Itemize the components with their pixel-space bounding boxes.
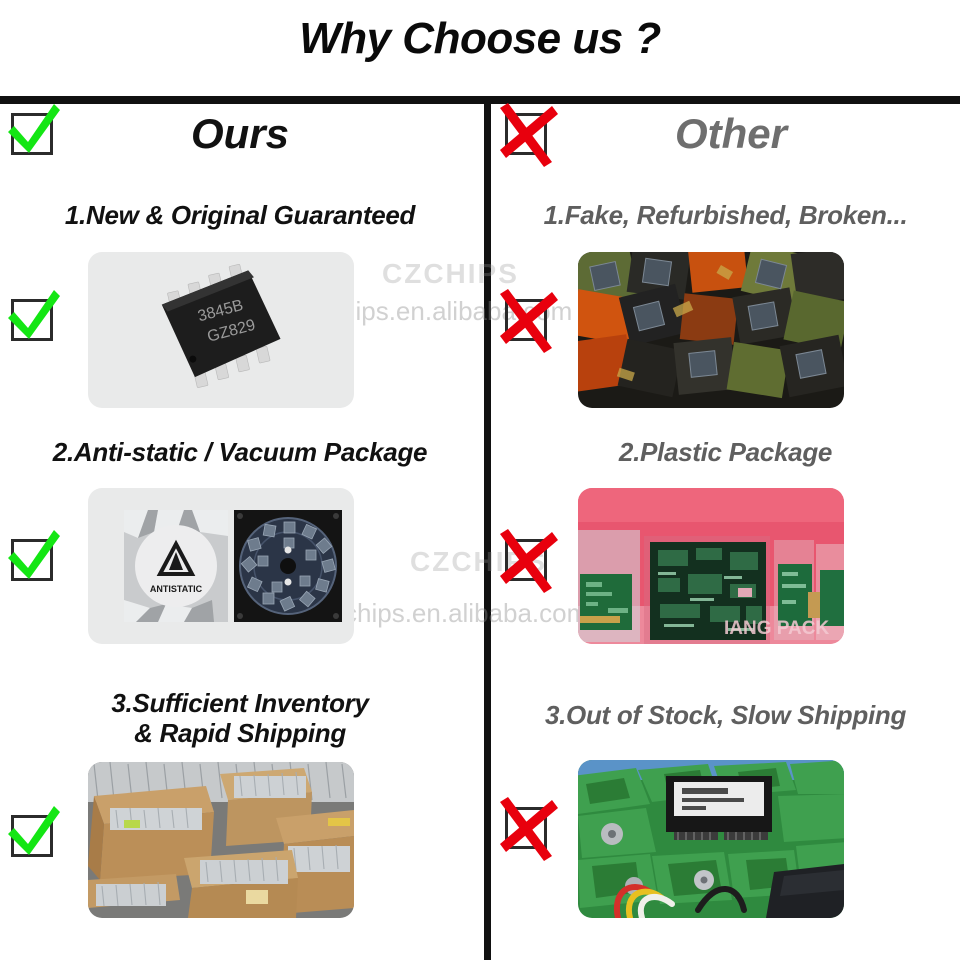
photo-stock-cartons <box>88 762 354 918</box>
check-mark-icon-heading <box>4 106 60 162</box>
check-mark-icon-row-1 <box>4 292 60 348</box>
svg-text:IANG PACK: IANG PACK <box>724 618 829 639</box>
row-2-label-ours: 2.Anti-static / Vacuum Package <box>0 437 480 467</box>
photo-antistatic-package: ANTISTATIC <box>88 488 354 644</box>
row-2-label-other: 2.Plastic Package <box>491 437 960 467</box>
photo-salvaged-chip-pile <box>578 252 844 408</box>
row-1-label-ours: 1.New & Original Guaranteed <box>0 200 480 230</box>
cross-mark-icon-row-1 <box>498 292 554 348</box>
row-1-label-other: 1.Fake, Refurbished, Broken... <box>491 200 960 230</box>
cross-mark-icon-heading <box>498 106 554 162</box>
cross-mark-icon-row-3 <box>498 800 554 856</box>
cross-mark-icon-row-2 <box>498 532 554 588</box>
check-mark-icon-row-2 <box>4 532 60 588</box>
svg-text:ANTISTATIC: ANTISTATIC <box>150 584 203 594</box>
row-3-label-other: 3.Out of Stock, Slow Shipping <box>491 700 960 730</box>
page-title: Why Choose us ? <box>0 14 960 64</box>
column-heading-ours: Ours <box>0 110 480 158</box>
column-divider-line <box>484 104 491 960</box>
photo-pcb-scrap-pile <box>578 760 844 918</box>
header-divider-line <box>0 96 960 104</box>
column-heading-other: Other <box>491 110 960 158</box>
row-3-label-ours: 3.Sufficient Inventory & Rapid Shipping <box>0 688 480 748</box>
photo-plastic-package: IANG PACK <box>578 488 844 644</box>
row-3-label-ours-line1: 3.Sufficient Inventory <box>0 688 480 718</box>
photo-single-chip: 3845B GZ829 <box>88 252 354 408</box>
check-mark-icon-row-3 <box>4 808 60 864</box>
row-3-label-ours-line2: & Rapid Shipping <box>0 718 480 748</box>
comparison-infographic: Why Choose us ? CZCHIPS czchips.en.aliba… <box>0 0 960 960</box>
